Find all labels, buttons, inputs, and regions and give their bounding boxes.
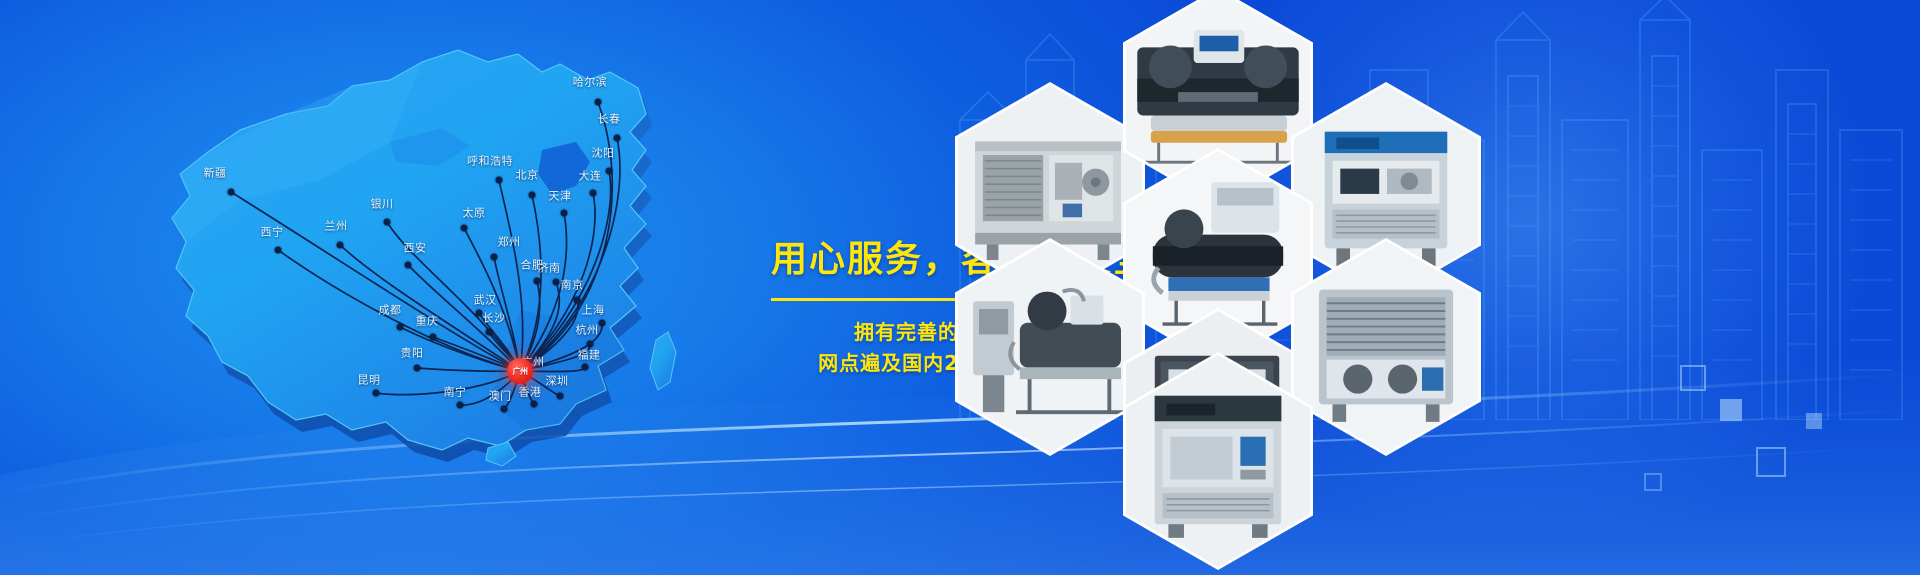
city-dot[interactable]	[373, 390, 380, 397]
map-geometry	[90, 10, 790, 480]
product-hex-industrial-water-chiller-unit[interactable]	[955, 238, 1145, 456]
city-label: 郑州	[498, 237, 521, 248]
city-label: 香港	[519, 387, 542, 398]
industrial-water-chiller-unit-photo	[958, 241, 1142, 453]
city-label: 上海	[582, 305, 605, 316]
service-network-banner: 哈尔滨长春沈阳大连北京天津呼和浩特新疆银川兰州太原郑州西宁西安济南合肥南京上海杭…	[0, 0, 1920, 575]
city-label: 昆明	[358, 375, 381, 386]
city-dot[interactable]	[486, 329, 493, 336]
city-dot[interactable]	[534, 278, 541, 285]
city-dot[interactable]	[384, 219, 391, 226]
city-label: 西安	[404, 243, 427, 254]
city-dot[interactable]	[491, 254, 498, 261]
city-label: 南京	[561, 280, 584, 291]
city-label: 杭州	[576, 325, 599, 336]
city-label: 新疆	[204, 168, 227, 179]
city-label: 太原	[463, 208, 486, 219]
city-dot[interactable]	[397, 324, 404, 331]
city-dot[interactable]	[590, 190, 597, 197]
city-dot[interactable]	[531, 401, 538, 408]
city-dot[interactable]	[529, 192, 536, 199]
city-label: 沈阳	[592, 148, 615, 159]
city-dot[interactable]	[461, 225, 468, 232]
city-dot[interactable]	[574, 297, 581, 304]
city-label: 贵阳	[401, 348, 424, 359]
city-label: 武汉	[474, 295, 497, 306]
finned-condenser-chiller-photo	[1294, 241, 1478, 453]
city-dot[interactable]	[457, 402, 464, 409]
product-hex-collage	[955, 0, 1515, 575]
city-label: 合肥	[521, 260, 544, 271]
city-dot[interactable]	[606, 168, 613, 175]
city-dot[interactable]	[553, 279, 560, 286]
hub-marker-guangzhou[interactable]: 广州	[507, 358, 533, 384]
city-dot[interactable]	[275, 247, 282, 254]
city-dot[interactable]	[476, 310, 483, 317]
city-label: 长春	[598, 114, 621, 125]
city-dot[interactable]	[587, 341, 594, 348]
city-label: 银川	[371, 199, 394, 210]
city-label: 南宁	[444, 387, 467, 398]
city-label: 哈尔滨	[573, 77, 608, 88]
china-map: 哈尔滨长春沈阳大连北京天津呼和浩特新疆银川兰州太原郑州西宁西安济南合肥南京上海杭…	[90, 10, 790, 480]
decorative-squares	[1560, 355, 1860, 535]
city-label: 大连	[579, 171, 602, 182]
city-dot[interactable]	[414, 365, 421, 372]
city-label: 重庆	[416, 316, 439, 327]
product-hex-finned-condenser-chiller[interactable]	[1291, 238, 1481, 456]
city-label: 北京	[516, 170, 539, 181]
city-label: 深圳	[546, 376, 569, 387]
city-dot[interactable]	[430, 334, 437, 341]
city-label: 呼和浩特	[467, 156, 513, 167]
city-dot[interactable]	[599, 320, 606, 327]
city-dot[interactable]	[496, 177, 503, 184]
city-label: 天津	[549, 191, 572, 202]
city-dot[interactable]	[557, 393, 564, 400]
city-dot[interactable]	[582, 364, 589, 371]
city-label: 福建	[578, 350, 601, 361]
city-label: 长沙	[483, 313, 506, 324]
city-label: 成都	[379, 305, 402, 316]
city-dot[interactable]	[405, 262, 412, 269]
city-dot[interactable]	[337, 242, 344, 249]
city-dot[interactable]	[228, 189, 235, 196]
city-label: 西宁	[261, 227, 284, 238]
city-dot[interactable]	[595, 99, 602, 106]
city-dot[interactable]	[614, 135, 621, 142]
city-label: 澳门	[489, 391, 512, 402]
city-dot[interactable]	[501, 406, 508, 413]
city-dot[interactable]	[561, 210, 568, 217]
hub-marker-label: 广州	[513, 366, 528, 377]
city-label: 兰州	[325, 221, 348, 232]
